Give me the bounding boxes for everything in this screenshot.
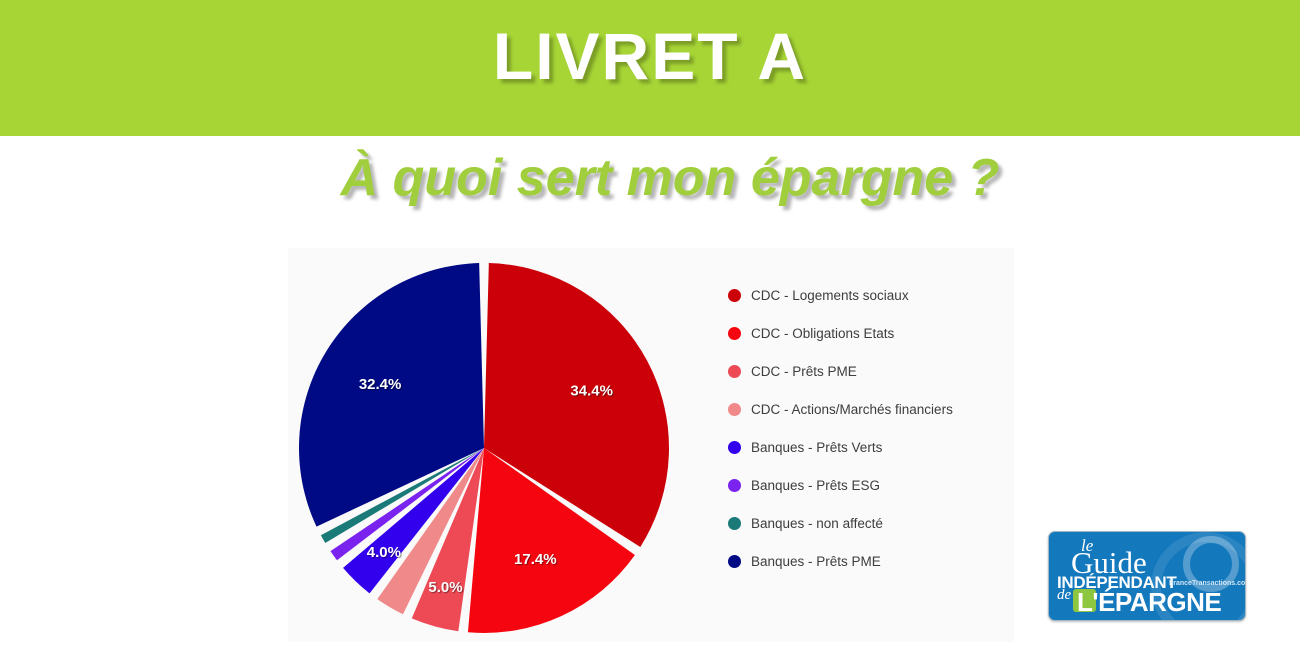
chart-panel: 34.4%17.4%5.0%4.0%32.4% CDC - Logements … (288, 248, 1014, 642)
legend-item-label: CDC - Actions/Marchés financiers (751, 402, 953, 417)
legend-color-swatch (728, 517, 741, 530)
page-title: LIVRET A (0, 18, 1300, 94)
legend-item[interactable]: CDC - Prêts PME (728, 352, 1018, 390)
legend-item[interactable]: CDC - Actions/Marchés financiers (728, 390, 1018, 428)
legend-item-label: CDC - Prêts PME (751, 364, 857, 379)
page-banner: LIVRET A (0, 0, 1300, 136)
legend-item-label: CDC - Obligations Etats (751, 326, 894, 341)
legend-color-swatch (728, 441, 741, 454)
pie-slice-label: 34.4% (570, 383, 613, 400)
legend-item[interactable]: Banques - Prêts ESG (728, 466, 1018, 504)
pie-chart: 34.4%17.4%5.0%4.0%32.4% (288, 248, 708, 642)
pie-slice[interactable] (299, 263, 484, 527)
legend-color-swatch (728, 555, 741, 568)
brand-logo[interactable]: le Guide INDÉPENDANT de L'ÉPARGNE France… (1048, 531, 1246, 621)
logo-epargne-text: L'ÉPARGNE (1077, 587, 1221, 618)
legend-item-label: Banques - Prêts Verts (751, 440, 882, 455)
legend-item-label: CDC - Logements sociaux (751, 288, 909, 303)
pie-slice-label: 17.4% (514, 551, 557, 568)
logo-site-text: FranceTransactions.com (1169, 580, 1246, 587)
legend-item[interactable]: Banques - non affecté (728, 504, 1018, 542)
legend-item-label: Banques - non affecté (751, 516, 883, 531)
legend-color-swatch (728, 479, 741, 492)
legend-color-swatch (728, 289, 741, 302)
pie-slice-label: 4.0% (367, 544, 401, 561)
pie-chart-svg: 34.4%17.4%5.0%4.0%32.4% (288, 248, 708, 642)
brand-logo-inner: le Guide INDÉPENDANT de L'ÉPARGNE France… (1049, 532, 1245, 620)
legend-item-label: Banques - Prêts PME (751, 554, 881, 569)
pie-slice-label: 32.4% (359, 376, 402, 393)
legend-item[interactable]: CDC - Obligations Etats (728, 314, 1018, 352)
legend-color-swatch (728, 365, 741, 378)
chart-legend: CDC - Logements sociaux CDC - Obligation… (728, 276, 1018, 580)
legend-item[interactable]: Banques - Prêts Verts (728, 428, 1018, 466)
pie-slices (299, 263, 669, 633)
pie-slice-label: 5.0% (428, 579, 462, 596)
legend-item[interactable]: CDC - Logements sociaux (728, 276, 1018, 314)
legend-color-swatch (728, 403, 741, 416)
legend-item[interactable]: Banques - Prêts PME (728, 542, 1018, 580)
logo-de-text: de (1057, 587, 1071, 604)
legend-color-swatch (728, 327, 741, 340)
page-subtitle: À quoi sert mon épargne ? (0, 148, 1300, 208)
legend-item-label: Banques - Prêts ESG (751, 478, 880, 493)
